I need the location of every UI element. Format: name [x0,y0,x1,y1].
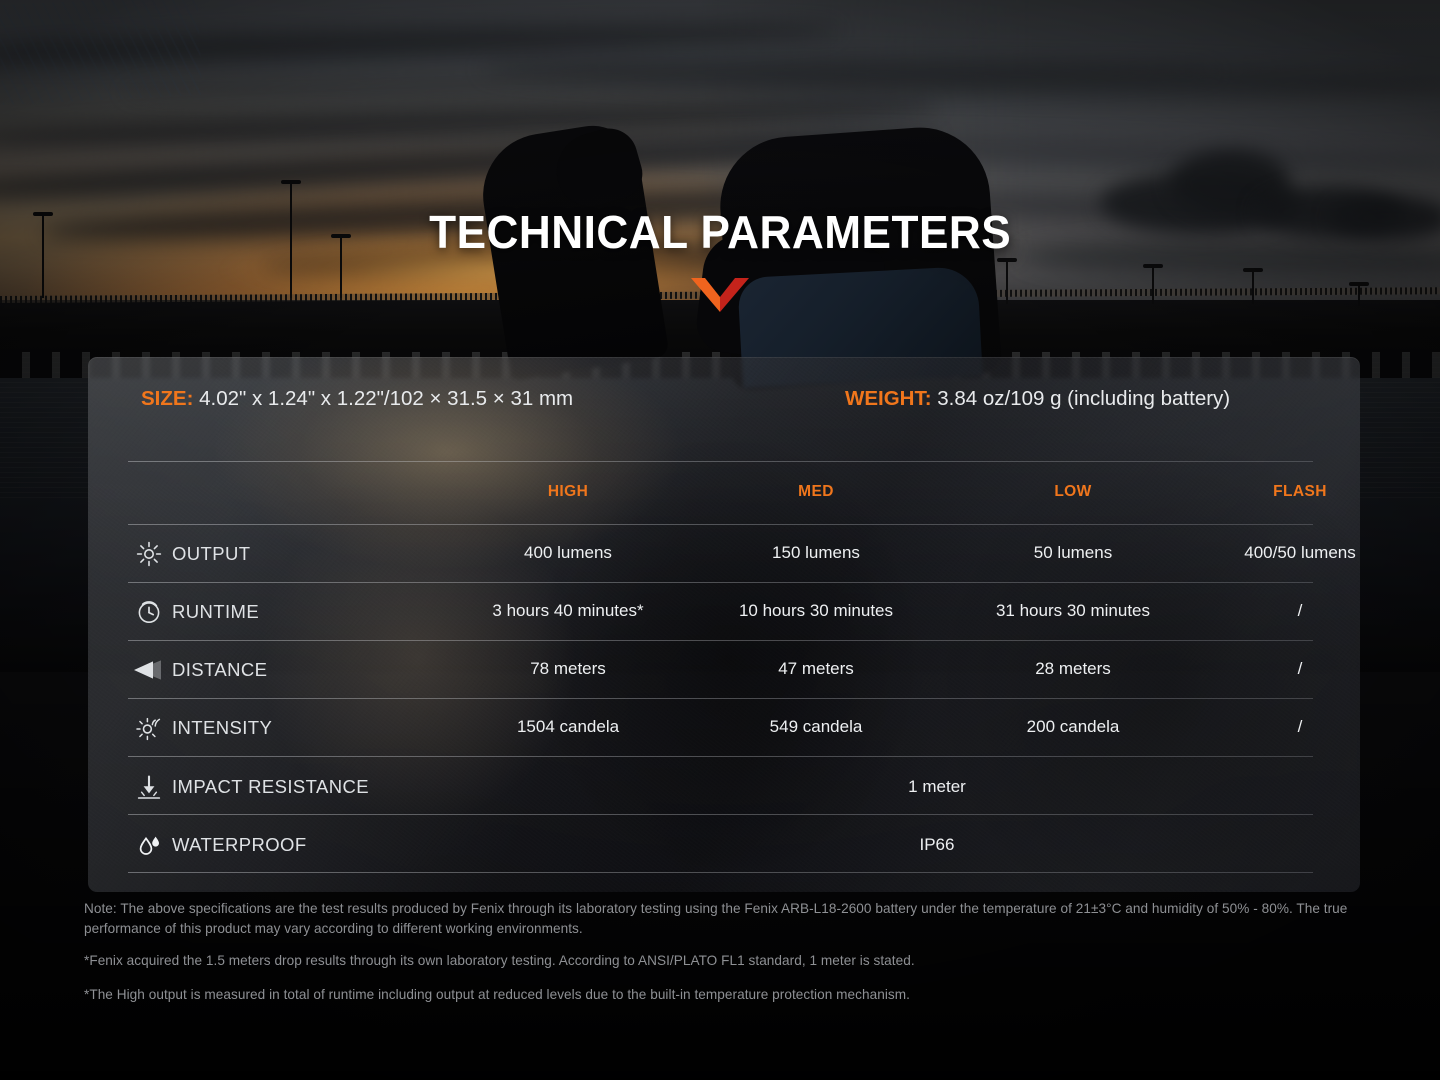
cell-runtime-low: 31 hours 30 minutes [973,601,1173,621]
column-header-low: LOW [973,483,1173,501]
cell-intensity-high: 1504 candela [468,717,668,737]
footnote-note: Note: The above specifications are the t… [84,899,1374,938]
cell-intensity-low: 200 candela [973,717,1173,737]
column-header-high: HIGH [468,483,668,501]
row-label-text: DISTANCE [172,659,267,681]
row-label-runtime: RUNTIME [136,599,259,625]
weight-value: 3.84 oz/109 g (including battery) [937,387,1230,410]
title-block: TECHNICAL PARAMETERS [0,205,1440,312]
chevron-down-divider [691,278,749,312]
cell-impact-resistance-value: 1 meter [837,777,1037,797]
page-title: TECHNICAL PARAMETERS [429,205,1011,259]
footnotes: Note: The above specifications are the t… [84,899,1374,1004]
table-divider [128,814,1313,815]
column-header-flash: FLASH [1200,483,1360,501]
footnote-output: *The High output is measured in total of… [84,985,1374,1005]
table-divider [128,698,1313,699]
cell-intensity-med: 549 candela [716,717,916,737]
cell-distance-flash: / [1200,659,1360,679]
row-label-text: WATERPROOF [172,834,307,856]
table-divider [128,640,1313,641]
row-label-intensity: INTENSITY [136,715,272,741]
row-label-distance: DISTANCE [132,657,267,683]
table-divider [128,461,1313,462]
footnote-drop: *Fenix acquired the 1.5 meters drop resu… [84,951,1374,971]
cell-runtime-high: 3 hours 40 minutes* [468,601,668,621]
cell-intensity-flash: / [1200,717,1360,737]
cell-distance-low: 28 meters [973,659,1173,679]
row-label-text: RUNTIME [172,601,259,623]
technical-parameters-panel: SIZE: 4.02" x 1.24" x 1.22"/102 × 31.5 ×… [88,357,1360,892]
column-header-med: MED [716,483,916,501]
size-spec: SIZE: 4.02" x 1.24" x 1.22"/102 × 31.5 ×… [141,387,573,411]
table-divider [128,524,1313,525]
table-divider [128,756,1313,757]
row-label-text: IMPACT RESISTANCE [172,776,369,798]
table-divider [128,582,1313,583]
size-weight-row: SIZE: 4.02" x 1.24" x 1.22"/102 × 31.5 ×… [88,387,1360,429]
cell-output-med: 150 lumens [716,543,916,563]
intensity-icon [136,715,162,741]
row-label-waterproof: WATERPROOF [136,832,307,858]
clock-runtime-icon [136,599,162,625]
size-label: SIZE: [141,387,193,410]
cell-runtime-med: 10 hours 30 minutes [716,601,916,621]
row-label-text: OUTPUT [172,543,250,565]
table-divider [128,872,1313,873]
cell-output-high: 400 lumens [468,543,668,563]
row-label-output: OUTPUT [136,541,250,567]
cell-output-flash: 400/50 lumens [1200,543,1360,563]
cell-distance-med: 47 meters [716,659,916,679]
water-drop-icon [136,832,162,858]
sun-output-icon [136,541,162,567]
weight-spec: WEIGHT: 3.84 oz/109 g (including battery… [845,387,1230,411]
cell-waterproof-value: IP66 [837,835,1037,855]
row-label-impact-resistance: IMPACT RESISTANCE [136,774,369,800]
beam-distance-icon [132,657,162,683]
impact-arrow-icon [136,774,162,800]
weight-label: WEIGHT: [845,387,932,410]
size-value: 4.02" x 1.24" x 1.22"/102 × 31.5 × 31 mm [199,387,573,410]
cell-runtime-flash: / [1200,601,1360,621]
row-label-text: INTENSITY [172,717,272,739]
cell-output-low: 50 lumens [973,543,1173,563]
cell-distance-high: 78 meters [468,659,668,679]
